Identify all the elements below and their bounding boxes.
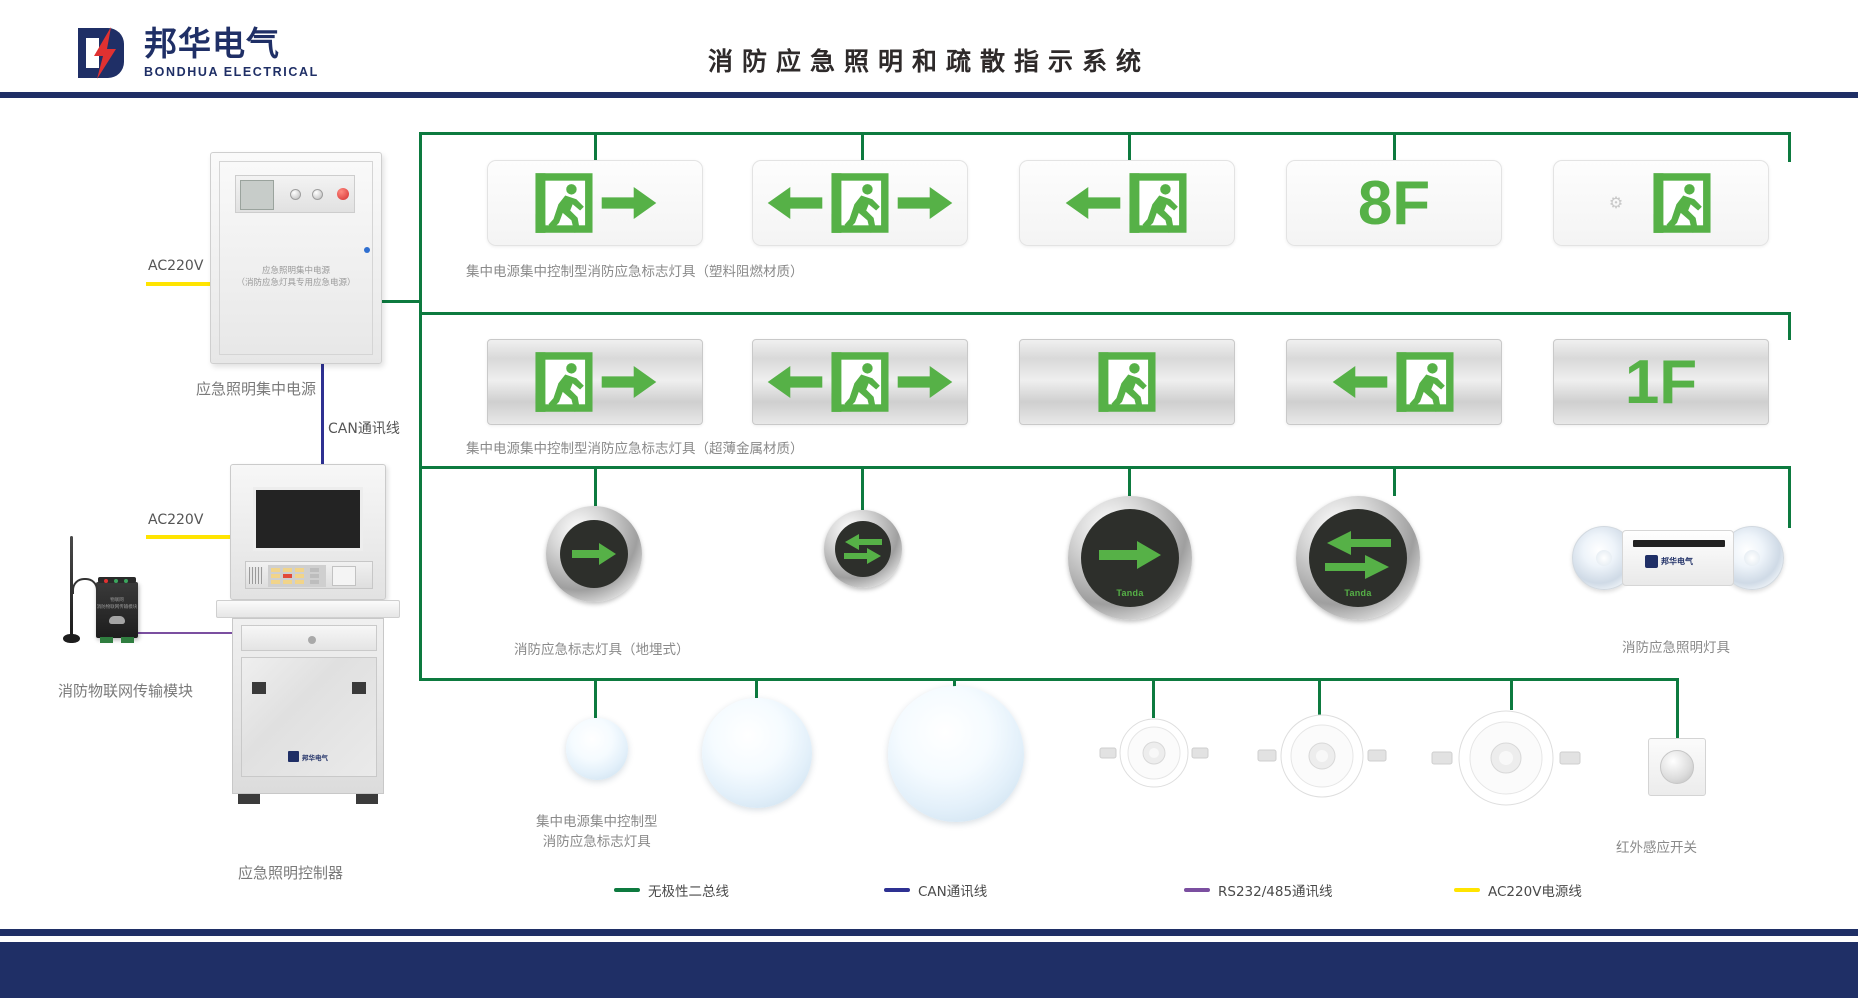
iot-face-text: 物联网 消防物联网传输模块: [96, 597, 138, 611]
bus-drop-r4-5: [1318, 678, 1321, 718]
metal-floor-sign-1f[interactable]: 1F: [1553, 339, 1769, 425]
legend: 无极性二总线 CAN通讯线 RS232/485通讯线 AC220V电源线: [614, 880, 1514, 902]
bus-row2-right-drop: [1788, 312, 1791, 340]
lock-icon: [308, 636, 316, 644]
legend-item-3: AC220V电源线: [1454, 880, 1582, 900]
running-man-exit-icon: [1651, 172, 1713, 234]
ac220v-wire-cabinet: [146, 282, 212, 286]
floor-number-label: 1F: [1625, 347, 1697, 418]
bus-row1-horizontal: [419, 132, 1791, 135]
bus-drop-r1-4: [1393, 132, 1396, 160]
ground-face: Tanda: [1309, 509, 1407, 607]
legend-item-0: 无极性二总线: [614, 880, 729, 900]
sunburst-icon: ⚙: [1609, 193, 1623, 213]
ground-face: Tanda: [1081, 509, 1179, 607]
row1-caption: 集中电源集中控制型消防应急标志灯具（塑料阻燃材质）: [466, 260, 804, 280]
console-keypad-panel[interactable]: [245, 561, 373, 589]
bolt-square-logo-icon: [1645, 555, 1658, 568]
legend-swatch-1: [884, 888, 910, 892]
bus-drop-r4-1: [594, 678, 597, 718]
emergency-power-cabinet[interactable]: 应急照明集中电源 （消防应急灯具专用应急电源）: [210, 152, 382, 364]
legend-swatch-3: [1454, 888, 1480, 892]
arrow-left-right-icon: [844, 534, 882, 564]
ceiling-light-large[interactable]: [888, 686, 1024, 822]
row2-caption: 集中电源集中控制型消防应急标志灯具（超薄金属材质）: [466, 437, 804, 457]
console-drawer[interactable]: [241, 625, 377, 651]
ground-face: [560, 520, 628, 588]
downlight-2[interactable]: [1256, 714, 1388, 803]
iot-terminal-left: [100, 637, 113, 643]
console-vent-left-icon: [252, 682, 266, 694]
bus-row4-horizontal: [419, 678, 1679, 681]
bus-drop-r3-2: [861, 466, 864, 510]
metal-exit-sign-left[interactable]: [1286, 339, 1502, 425]
bus-row2-horizontal: [419, 312, 1791, 315]
running-man-exit-icon: [829, 172, 891, 234]
bolt-square-logo-icon: [288, 751, 299, 762]
cabinet-face-line1: 应急照明集中电源: [211, 265, 381, 277]
legend-item-1: CAN通讯线: [884, 880, 987, 900]
diagram-canvas: 邦华电气 BONDHUA ELECTRICAL 消防应急照明和疏散指示系统: [0, 0, 1858, 998]
console-vent-right-icon: [352, 682, 366, 694]
downlight-1[interactable]: [1098, 718, 1210, 795]
ac220v-wire-console: [146, 535, 232, 539]
row4-caption: 集中电源集中控制型 消防应急标志灯具: [536, 812, 658, 853]
iot-led-red-icon: [104, 579, 108, 583]
exit-sign-left-right[interactable]: [752, 160, 968, 246]
cabinet-knob-1[interactable]: [290, 189, 301, 200]
infrared-switch-caption: 红外感应开关: [1616, 836, 1697, 856]
legend-label-1: CAN通讯线: [918, 880, 987, 900]
cabinet-knob-2[interactable]: [312, 189, 323, 200]
ac220v-label-cabinet: AC220V: [148, 258, 203, 274]
arrow-left-icon: [767, 366, 823, 398]
bus-drop-r1-2: [861, 132, 864, 160]
power-cabinet-caption: 应急照明集中电源: [196, 378, 316, 399]
console-keypad[interactable]: [268, 565, 326, 587]
metal-exit-sign-right[interactable]: [487, 339, 703, 425]
console-printer-slot: [332, 566, 356, 586]
cabinet-control-panel[interactable]: [235, 175, 355, 213]
running-man-exit-icon: [533, 351, 595, 413]
console-door[interactable]: 邦华电气: [241, 657, 377, 777]
arrow-right-icon: [1099, 541, 1161, 569]
can-wire: [321, 364, 324, 466]
bus-drop-r1-1: [594, 132, 597, 160]
legend-label-2: RS232/485通讯线: [1218, 880, 1333, 900]
antenna-base-icon: [63, 634, 80, 643]
footer-band: [0, 942, 1858, 998]
twin-light-brand: 邦华电气: [1645, 555, 1693, 568]
iot-led-green2-icon: [124, 579, 128, 583]
twin-light-caption: 消防应急照明灯具: [1622, 636, 1730, 656]
console-brand-text: 邦华电气: [302, 752, 328, 762]
metal-exit-sign-plain[interactable]: [1019, 339, 1235, 425]
legend-label-0: 无极性二总线: [648, 880, 729, 900]
exit-sign-right[interactable]: [487, 160, 703, 246]
floor-sign-8f[interactable]: 8F: [1286, 160, 1502, 246]
bus-drop-r4-4: [1152, 678, 1155, 718]
ground-light-tanda-left-right[interactable]: Tanda: [1296, 496, 1420, 620]
arrow-right-icon: [572, 543, 616, 565]
bus-drop-r3-4: [1393, 466, 1396, 496]
arrow-right-icon: [897, 366, 953, 398]
console-cabinet-body: 邦华电气: [232, 618, 384, 794]
metal-exit-sign-left-right[interactable]: [752, 339, 968, 425]
bus-drop-r3-3: [1128, 466, 1131, 496]
rs485-wire: [138, 632, 232, 634]
console-head: [230, 464, 386, 600]
ceiling-light-small[interactable]: [566, 718, 628, 780]
arrow-left-icon: [1065, 187, 1121, 219]
page-header: 邦华电气 BONDHUA ELECTRICAL 消防应急照明和疏散指示系统: [0, 0, 1858, 92]
twin-light-vent: [1633, 540, 1725, 547]
twin-light-body: 邦华电气: [1622, 530, 1734, 586]
bus-cabinet-link: [382, 300, 422, 303]
bus-drop-r4-2: [755, 678, 758, 698]
arrow-right-icon: [897, 187, 953, 219]
ac220v-label-console: AC220V: [148, 512, 203, 528]
cabinet-indicator-dot-icon: [364, 247, 370, 253]
legend-item-2: RS232/485通讯线: [1184, 880, 1333, 900]
fire-iot-transmission-module[interactable]: 物联网 消防物联网传输模块: [96, 582, 138, 638]
emergency-twin-head-light[interactable]: 邦华电气: [1572, 524, 1784, 596]
row4-caption-line2: 消防应急标志灯具: [536, 832, 658, 852]
legend-swatch-2: [1184, 888, 1210, 892]
emergency-lighting-controller[interactable]: 邦华电气: [230, 464, 386, 814]
floor-number-label: 8F: [1358, 168, 1430, 239]
ground-light-tanda-right[interactable]: Tanda: [1068, 496, 1192, 620]
ground-face: [835, 521, 891, 577]
cable-loop-icon: [72, 578, 98, 594]
bus-twinlight-drop: [1788, 466, 1791, 528]
running-man-exit-icon: [1096, 351, 1158, 413]
row3-caption: 消防应急标志灯具（地埋式）: [514, 638, 690, 658]
ground-light-brand: Tanda: [1116, 588, 1143, 598]
cabinet-face-line2: （消防应急灯具专用应急电源）: [211, 277, 381, 289]
legend-label-3: AC220V电源线: [1488, 880, 1582, 900]
infrared-sensor-switch[interactable]: [1648, 738, 1706, 796]
iot-face-line2: 消防物联网传输模块: [96, 604, 138, 611]
header-divider: [0, 92, 1858, 98]
console-desk: [216, 600, 400, 618]
bus-trunk-vertical: [419, 132, 422, 680]
running-man-exit-icon: [829, 351, 891, 413]
legend-swatch-0: [614, 888, 640, 892]
cabinet-display: [240, 180, 274, 210]
downlight-3[interactable]: [1430, 710, 1582, 811]
bus-drop-r1-3: [1128, 132, 1131, 160]
ceiling-light-medium[interactable]: [702, 698, 812, 808]
ground-light-brand: Tanda: [1344, 588, 1371, 598]
exit-sign-plain[interactable]: ⚙: [1553, 160, 1769, 246]
row4-caption-line1: 集中电源集中控制型: [536, 812, 658, 832]
ground-light-right-arrow[interactable]: [546, 506, 642, 602]
running-man-exit-icon: [1394, 351, 1456, 413]
console-feet: [232, 794, 384, 804]
iot-module-caption: 消防物联网传输模块: [58, 680, 193, 701]
arrow-left-right-icon: [1325, 531, 1391, 581]
can-bus-label: CAN通讯线: [328, 418, 400, 438]
bus-drop-r3-1: [594, 466, 597, 506]
iot-led-green-icon: [114, 579, 118, 583]
running-man-exit-icon: [1127, 172, 1189, 234]
arrow-left-icon: [767, 187, 823, 219]
running-man-exit-icon: [533, 172, 595, 234]
iot-face-line1: 物联网: [96, 597, 138, 604]
sensor-lens-icon: [1660, 750, 1694, 784]
bus-drop-r4-6: [1510, 678, 1513, 710]
cloud-icon: [109, 616, 125, 624]
exit-sign-left[interactable]: [1019, 160, 1235, 246]
console-brand-logo: 邦华电气: [288, 751, 328, 762]
arrow-left-icon: [1332, 366, 1388, 398]
bus-row3-horizontal: [419, 466, 1791, 469]
controller-caption: 应急照明控制器: [238, 862, 343, 883]
console-vent-icon: [249, 567, 263, 584]
twin-light-brand-text: 邦华电气: [1661, 556, 1693, 567]
arrow-right-icon: [601, 187, 657, 219]
page-title: 消防应急照明和疏散指示系统: [0, 42, 1858, 78]
iot-terminal-right: [121, 637, 134, 643]
cabinet-face-text: 应急照明集中电源 （消防应急灯具专用应急电源）: [211, 265, 381, 290]
bus-row1-right-drop: [1788, 132, 1791, 162]
arrow-right-icon: [601, 366, 657, 398]
ground-light-double-arrow[interactable]: [824, 510, 902, 588]
footer-divider: [0, 929, 1858, 936]
bus-drop-r4-7: [1676, 678, 1679, 738]
console-screen[interactable]: [253, 487, 363, 551]
cabinet-alarm-led-icon: [337, 188, 349, 200]
